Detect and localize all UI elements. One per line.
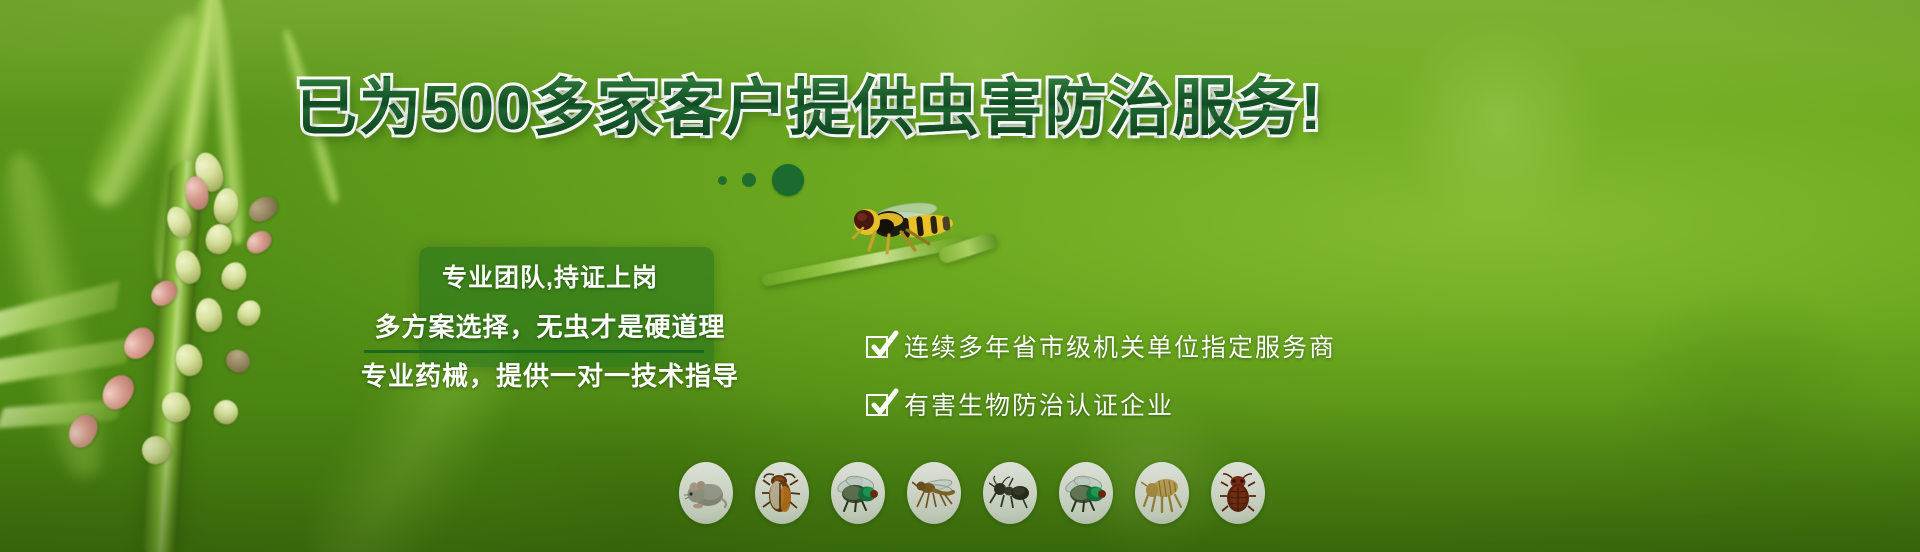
bedbug-icon[interactable] <box>1211 462 1265 524</box>
feature-line-2: 多方案选择，无虫才是硬道理 <box>340 307 760 344</box>
page-title-outline: 已为500多家客户提供虫害防治服务! <box>295 78 1323 140</box>
greenfly-icon[interactable] <box>1059 462 1113 524</box>
hoverfly-insect <box>845 198 965 256</box>
mosquito-icon[interactable] <box>907 462 961 524</box>
checkbox-checked-icon <box>866 334 891 359</box>
certification-bullet-list: 连续多年省市级机关单位指定服务商 有害生物防治认证企业 <box>866 328 1336 444</box>
mouse-icon[interactable] <box>679 462 733 524</box>
pest-icon-row <box>679 462 1265 524</box>
medium-dot-icon <box>742 173 756 187</box>
horizontal-divider <box>364 350 704 353</box>
feature-panel-text: 专业团队,持证上岗 多方案选择，无虫才是硬道理 专业药械，提供一对一技术指导 <box>340 258 760 393</box>
pest-control-hero-banner: 已为500多家客户提供虫害防治服务! 已为500多家客户提供虫害防治服务! 专业… <box>0 0 1920 552</box>
flea-icon[interactable] <box>1135 462 1189 524</box>
list-item: 有害生物防治认证企业 <box>866 386 1336 422</box>
list-item: 连续多年省市级机关单位指定服务商 <box>866 328 1336 364</box>
checkbox-checked-icon <box>866 392 891 417</box>
ant-icon[interactable] <box>983 462 1037 524</box>
feature-line-3: 专业药械，提供一对一技术指导 <box>340 356 760 393</box>
list-item-label: 连续多年省市级机关单位指定服务商 <box>904 328 1336 364</box>
feature-line-1: 专业团队,持证上岗 <box>340 258 760 294</box>
large-dot-icon <box>772 164 804 196</box>
blowfly-icon[interactable] <box>831 462 885 524</box>
small-dot-icon <box>718 176 727 185</box>
list-item-label: 有害生物防治认证企业 <box>904 386 1174 422</box>
cockroach-icon[interactable] <box>755 462 809 524</box>
